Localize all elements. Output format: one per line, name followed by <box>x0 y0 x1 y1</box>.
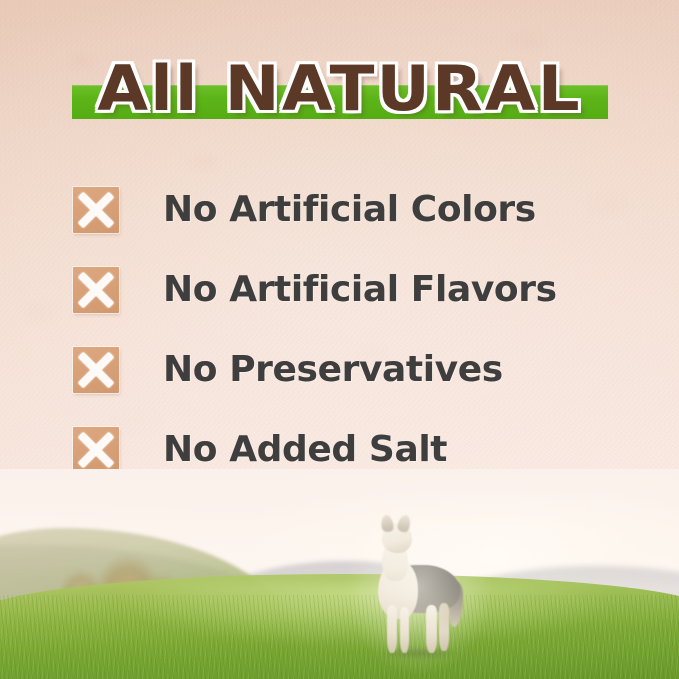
photo-top-fade <box>0 469 679 527</box>
landscape-photo <box>0 469 679 679</box>
x-mark-icon <box>73 187 119 233</box>
x-mark-icon <box>73 267 119 313</box>
claim-label: No Preservatives <box>163 350 503 390</box>
page-title: All NATURAL <box>0 51 679 127</box>
claim-label: No Artificial Flavors <box>163 270 557 310</box>
list-item: No Preservatives <box>0 330 679 410</box>
claims-list: No Artificial Colors No Artificial Flavo… <box>0 170 679 490</box>
claim-label: No Artificial Colors <box>163 190 536 230</box>
x-mark-icon <box>73 347 119 393</box>
claim-label: No Added Salt <box>163 430 447 470</box>
all-natural-product-poster: All NATURAL No Artificial Colors No Arti… <box>0 0 679 679</box>
list-item: No Artificial Flavors <box>0 250 679 330</box>
x-mark-icon <box>73 427 119 473</box>
headline-banner: All NATURAL <box>0 55 679 127</box>
list-item: No Artificial Colors <box>0 170 679 250</box>
